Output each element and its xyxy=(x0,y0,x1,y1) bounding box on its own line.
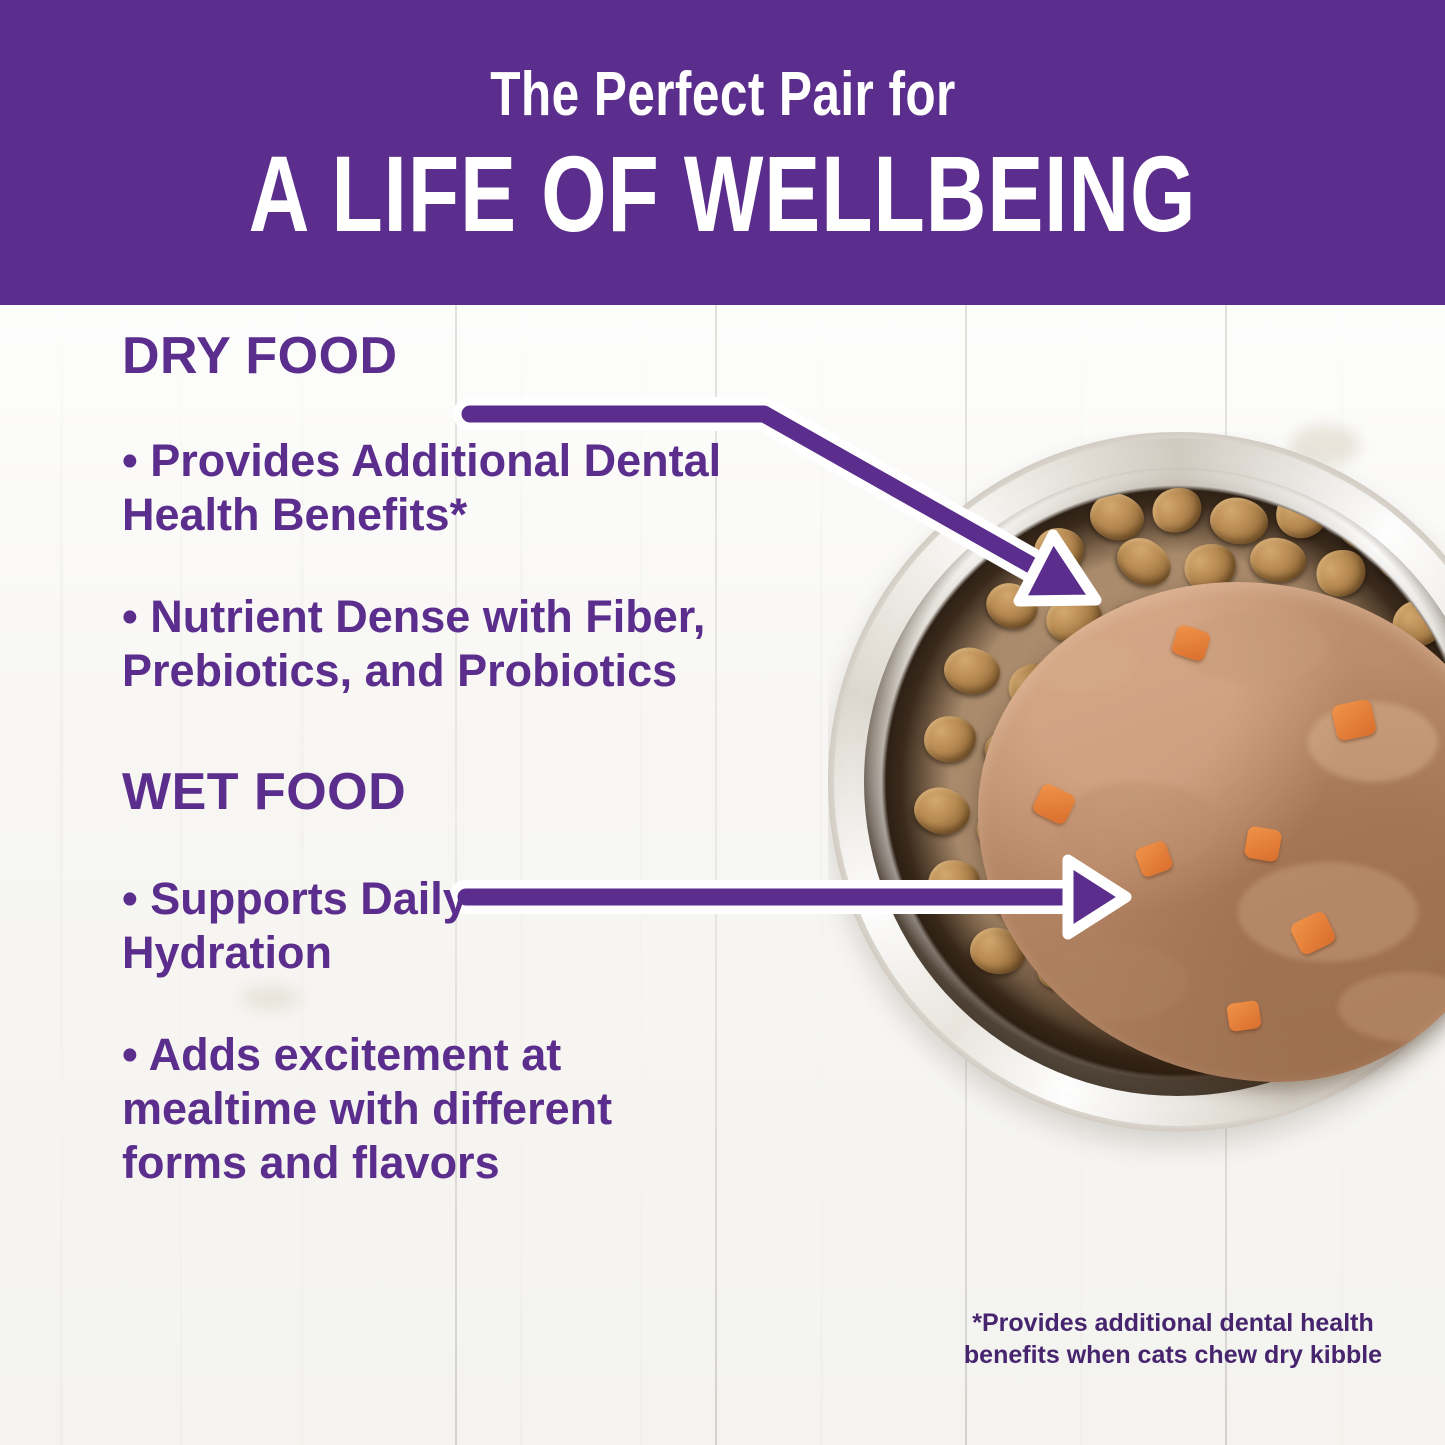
kibble-piece xyxy=(910,783,974,840)
kibble-piece xyxy=(1248,535,1308,585)
header-banner: The Perfect Pair for A LIFE OF WELLBEING xyxy=(0,0,1445,305)
dry-food-section: DRY FOOD • Provides Additional Dental He… xyxy=(122,330,822,698)
kibble-piece xyxy=(1146,488,1209,540)
pate-texture xyxy=(1338,972,1445,1042)
dry-food-bullets: • Provides Additional Dental Health Bene… xyxy=(122,434,822,698)
copy-column: DRY FOOD • Provides Additional Dental He… xyxy=(122,330,822,1220)
list-item: • Adds excitement at mealtime with diffe… xyxy=(122,1028,682,1190)
kibble-piece xyxy=(926,858,981,908)
wet-food-heading: WET FOOD xyxy=(122,766,822,818)
kibble-piece xyxy=(940,643,1003,698)
cat-food-bowl-photo xyxy=(828,432,1445,1244)
carrot-piece xyxy=(1226,1000,1262,1032)
infographic-root: The Perfect Pair for A LIFE OF WELLBEING xyxy=(0,0,1445,1445)
wet-food-bullets: • Supports Daily Hydration • Adds excite… xyxy=(122,872,822,1190)
pate-texture xyxy=(1238,862,1418,962)
carrot-piece xyxy=(1243,825,1282,862)
list-item: • Supports Daily Hydration xyxy=(122,872,642,980)
footnote-text: *Provides additional dental health benef… xyxy=(938,1308,1408,1371)
kibble-piece xyxy=(922,713,979,764)
list-item: • Provides Additional Dental Health Bene… xyxy=(122,434,762,542)
header-title: A LIFE OF WELLBEING xyxy=(249,140,1197,248)
kibble-piece xyxy=(980,576,1044,635)
wood-grain xyxy=(60,305,63,1445)
pate-texture xyxy=(1038,942,1188,1022)
kibble-piece xyxy=(1031,525,1087,578)
pate-texture xyxy=(1018,634,1138,694)
wet-food-section: WET FOOD • Supports Daily Hydration • Ad… xyxy=(122,766,822,1190)
dry-food-heading: DRY FOOD xyxy=(122,330,822,382)
list-item: • Nutrient Dense with Fiber, Prebiotics,… xyxy=(122,590,742,698)
bowl-body xyxy=(828,432,1445,1132)
header-subtitle: The Perfect Pair for xyxy=(490,64,956,126)
